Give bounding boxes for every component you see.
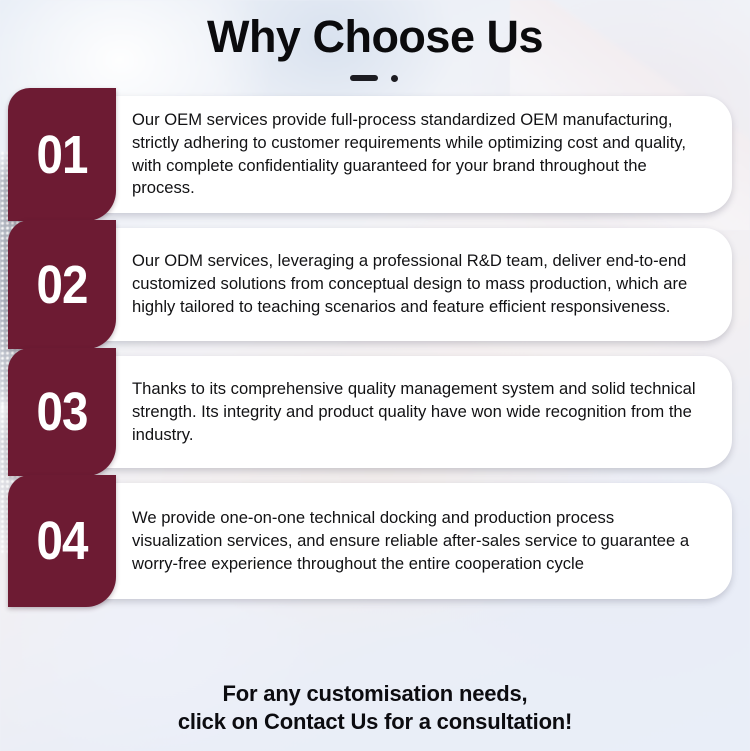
card-number-label: 02 [36, 258, 87, 312]
divider-dash-icon [350, 75, 378, 81]
divider-dot-icon [391, 75, 398, 82]
card-number-label: 04 [36, 514, 87, 568]
card-number-badge: 01 [8, 88, 116, 222]
card-number-badge: 03 [8, 348, 116, 476]
card-description: Our OEM services provide full-process st… [132, 109, 706, 201]
card-body: We provide one-on-one technical docking … [116, 483, 732, 599]
cta-line-2: click on Contact Us for a consultation! [0, 708, 750, 737]
feature-card: 04 We provide one-on-one technical docki… [18, 483, 732, 599]
card-body: Our ODM services, leveraging a professio… [116, 228, 732, 341]
page-title: Why Choose Us [0, 11, 750, 63]
call-to-action-footer: For any customisation needs, click on Co… [0, 680, 750, 751]
card-number-badge: 02 [8, 220, 116, 349]
card-body: Thanks to its comprehensive quality mana… [116, 356, 732, 468]
card-number-badge: 04 [8, 475, 116, 607]
feature-card: 02 Our ODM services, leveraging a profes… [18, 228, 732, 341]
feature-card: 03 Thanks to its comprehensive quality m… [18, 356, 732, 468]
card-description: Our ODM services, leveraging a professio… [132, 250, 706, 319]
header: Why Choose Us [0, 0, 750, 82]
feature-card-list: 01 Our OEM services provide full-process… [0, 96, 750, 600]
card-body: Our OEM services provide full-process st… [116, 96, 732, 214]
card-description: We provide one-on-one technical docking … [132, 507, 706, 576]
feature-card: 01 Our OEM services provide full-process… [18, 96, 732, 214]
card-number-label: 01 [36, 128, 87, 182]
card-description: Thanks to its comprehensive quality mana… [132, 378, 706, 447]
card-number-label: 03 [36, 385, 87, 439]
page-content: Why Choose Us 01 Our OEM services provid… [0, 0, 750, 751]
dash-dot-divider-icon [350, 74, 400, 82]
cta-line-1: For any customisation needs, [0, 680, 750, 709]
